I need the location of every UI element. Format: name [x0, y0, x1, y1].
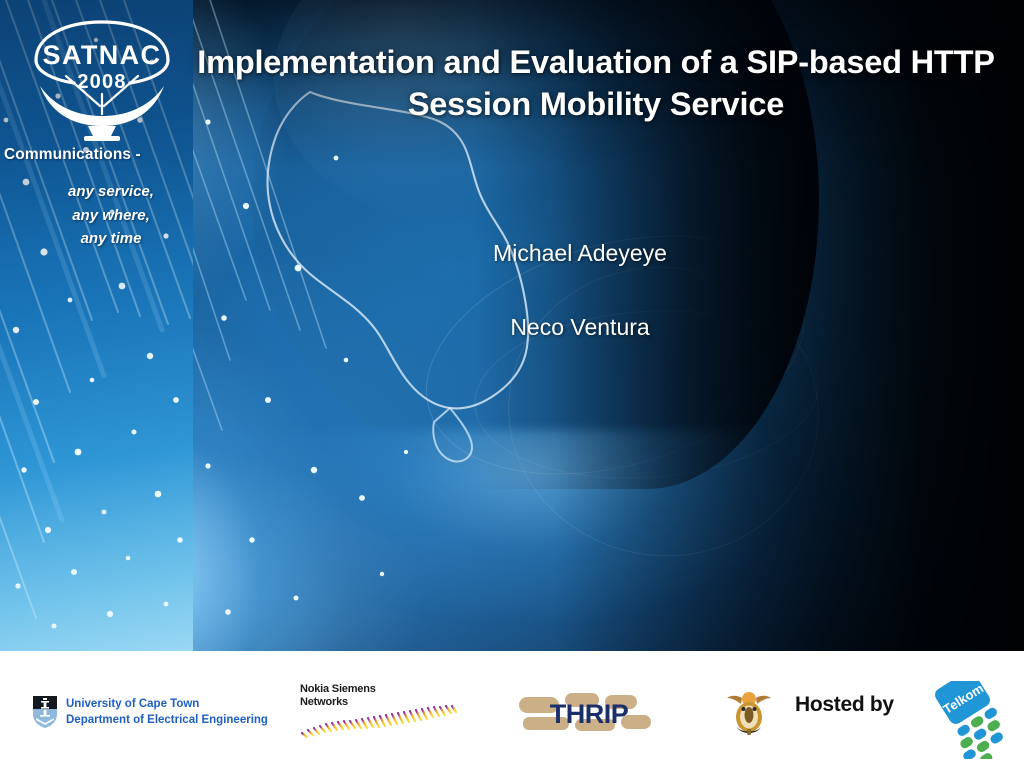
- nsn-swoosh-icon: [296, 703, 472, 743]
- tagline-line-3: any time: [28, 227, 194, 251]
- satnac-wordmark: SATNAC: [43, 40, 162, 70]
- uct-shield-icon: [32, 695, 58, 729]
- nokia-siemens-logo: Nokia Siemens Networks: [296, 683, 472, 741]
- satnac-year: 2008: [77, 71, 126, 93]
- tagline-heading: Communications -: [4, 146, 194, 164]
- thrip-logo: THRIP: [513, 691, 665, 735]
- author-name: Michael Adeyeye: [330, 240, 830, 268]
- author-name: Neco Ventura: [330, 314, 830, 342]
- satnac-logo: SATNAC 2008: [22, 14, 182, 142]
- conference-tagline: Communications - any service, any where,…: [4, 146, 194, 251]
- uct-line-2: Department of Electrical Engineering: [66, 712, 268, 728]
- presentation-slide: SATNAC 2008 Communications - any service…: [0, 0, 1024, 768]
- hero-background-image: SATNAC 2008 Communications - any service…: [0, 0, 1024, 651]
- south-africa-coat-of-arms-icon: [723, 689, 775, 737]
- tagline-line-2: any where,: [28, 204, 194, 228]
- tagline-line-1: any service,: [28, 180, 194, 204]
- uct-line-1: University of Cape Town: [66, 696, 268, 712]
- uct-logo-text: University of Cape Town Department of El…: [66, 696, 268, 729]
- tagline-lines: any service, any where, any time: [4, 180, 194, 251]
- nsn-line-1: Nokia Siemens: [300, 683, 376, 696]
- author-list: Michael Adeyeye Neco Ventura: [330, 240, 830, 341]
- thrip-wordmark: THRIP: [550, 699, 629, 729]
- hosted-by-label: Hosted by: [795, 693, 894, 717]
- slide-title: Implementation and Evaluation of a SIP-b…: [186, 42, 1006, 125]
- telkom-logo: Telkom: [918, 681, 1014, 759]
- sponsor-footer: University of Cape Town Department of El…: [0, 651, 1024, 768]
- uct-logo: University of Cape Town Department of El…: [32, 695, 268, 729]
